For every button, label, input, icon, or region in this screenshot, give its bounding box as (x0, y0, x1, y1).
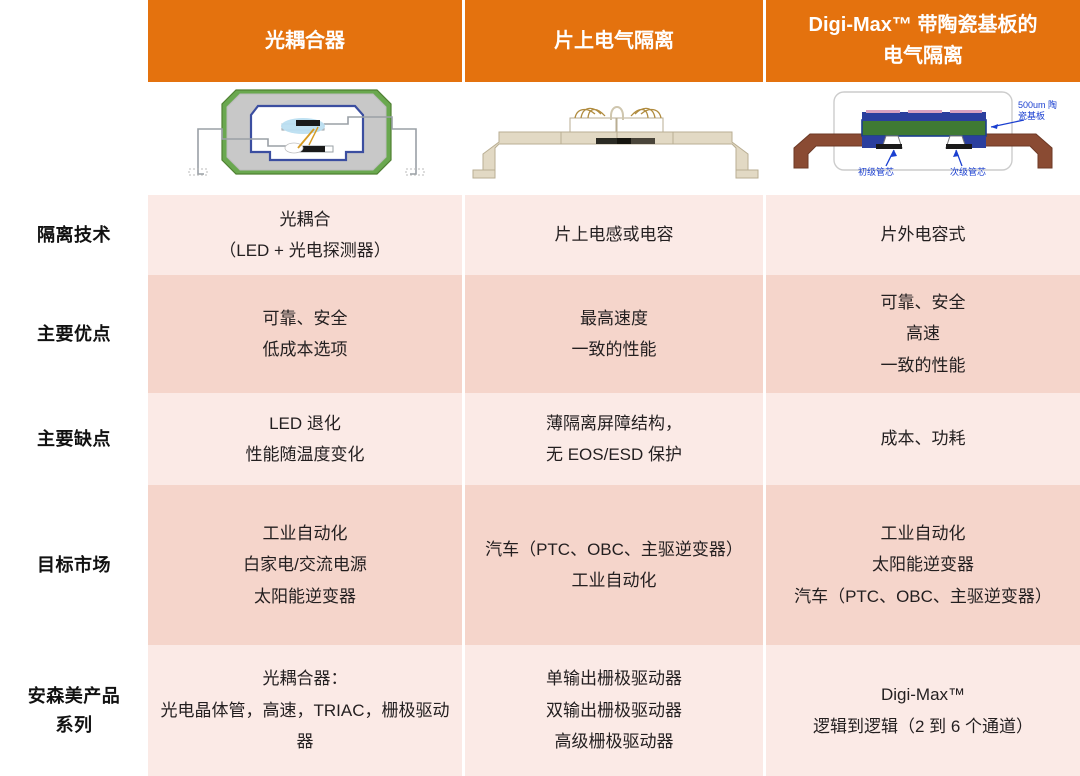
cell-r3-c3-line1: 成本、功耗 (881, 423, 966, 454)
diagram-on-chip-cell (465, 82, 766, 195)
cell-r5-c3-line2: 逻辑到逻辑（2 到 6 个通道） (813, 711, 1033, 742)
cell-r2-c2: 最高速度 一致的性能 (465, 275, 766, 393)
row-label-key-advantages-text: 主要优点 (37, 320, 111, 349)
cell-r3-c1: LED 退化 性能随温度变化 (148, 393, 465, 485)
annotation-primary-die: 初级管芯 (858, 166, 894, 177)
cell-r2-c3-line1: 可靠、安全 (881, 287, 966, 318)
row-label-target-markets: 目标市场 (0, 485, 148, 645)
cell-r5-c3: Digi-Max™ 逻辑到逻辑（2 到 6 个通道） (766, 645, 1080, 776)
cell-r5-c1: 光耦合器： 光电晶体管，高速，TRIAC，栅极驱动器 (148, 645, 465, 776)
annotation-secondary-die: 次级管芯 (950, 166, 986, 177)
column-header-on-chip-label: 片上电气隔离 (554, 26, 674, 57)
diagram-digimax-cell: 500um 陶 瓷基板 初级管芯 次级管芯 (766, 82, 1080, 195)
cell-r4-c1-line3: 太阳能逆变器 (254, 581, 356, 612)
row-label-onsemi-product-family-line2: 系列 (56, 711, 93, 740)
cell-r1-c1-line1: 光耦合 (280, 204, 331, 235)
cell-r5-c1-line1: 光耦合器： (263, 663, 348, 694)
cell-r4-c3-line1: 工业自动化 (881, 518, 966, 549)
header-corner-blank (0, 0, 148, 82)
cell-r3-c3: 成本、功耗 (766, 393, 1080, 485)
cell-r1-c1: 光耦合 （LED + 光电探测器） (148, 195, 465, 275)
cell-r2-c2-line2: 一致的性能 (572, 334, 657, 365)
column-header-on-chip: 片上电气隔离 (465, 0, 766, 82)
optocoupler-cross-section-icon (148, 82, 465, 195)
cell-r3-c2-line1: 薄隔离屏障结构， (546, 408, 682, 439)
cell-r3-c2: 薄隔离屏障结构， 无 EOS/ESD 保护 (465, 393, 766, 485)
cell-r4-c2-line1: 汽车（PTC、OBC、主驱逆变器）工业自动化 (477, 534, 751, 597)
cell-r1-c1-line2: （LED + 光电探测器） (219, 235, 390, 266)
diagram-on-chip (465, 82, 763, 195)
cell-r1-c2-line1: 片上电感或电容 (555, 219, 674, 250)
row-label-onsemi-product-family-line1: 安森美产品 (28, 682, 121, 711)
column-header-digimax: Digi-Max™ 带陶瓷基板的 电气隔离 (766, 0, 1080, 82)
cell-r1-c2: 片上电感或电容 (465, 195, 766, 275)
cell-r2-c1-line2: 低成本选项 (263, 334, 348, 365)
cell-r4-c3-line3: 汽车（PTC、OBC、主驱逆变器） (794, 581, 1052, 612)
digimax-ceramic-substrate-cross-section-icon: 500um 陶 瓷基板 初级管芯 次级管芯 (766, 82, 1080, 195)
cell-r1-c3-line1: 片外电容式 (881, 219, 966, 250)
column-header-optocoupler-label: 光耦合器 (265, 26, 345, 57)
cell-r5-c2-line1: 单输出栅极驱动器 (546, 663, 682, 694)
on-chip-isolation-cross-section-icon (465, 82, 766, 195)
row-label-onsemi-product-family: 安森美产品 系列 (0, 645, 148, 776)
cell-r2-c3-line2: 高速 (906, 318, 940, 349)
row-label-isolation-technology: 隔离技术 (0, 195, 148, 275)
cell-r5-c1-line2: 光电晶体管，高速，TRIAC，栅极驱动器 (160, 695, 450, 758)
cell-r4-c1-line1: 工业自动化 (263, 518, 348, 549)
diagram-optocoupler (148, 82, 462, 195)
cell-r2-c2-line1: 最高速度 (580, 303, 648, 334)
row-label-key-drawbacks: 主要缺点 (0, 393, 148, 485)
cell-r1-c3: 片外电容式 (766, 195, 1080, 275)
cell-r2-c3: 可靠、安全 高速 一致的性能 (766, 275, 1080, 393)
cell-r2-c1-line1: 可靠、安全 (263, 303, 348, 334)
cell-r4-c1: 工业自动化 白家电/交流电源 太阳能逆变器 (148, 485, 465, 645)
cell-r2-c1: 可靠、安全 低成本选项 (148, 275, 465, 393)
isolation-comparison-table: 光耦合器 片上电气隔离 Digi-Max™ 带陶瓷基板的 电气隔离 (0, 0, 1080, 776)
cell-r4-c1-line2: 白家电/交流电源 (243, 549, 367, 580)
cell-r4-c3-line2: 太阳能逆变器 (872, 549, 974, 580)
cell-r3-c1-line2: 性能随温度变化 (246, 439, 365, 470)
cell-r3-c1-line1: LED 退化 (269, 408, 341, 439)
diagram-digimax: 500um 陶 瓷基板 初级管芯 次级管芯 (766, 82, 1080, 195)
annotation-substrate-line2: 瓷基板 (1018, 110, 1045, 121)
row-label-isolation-technology-text: 隔离技术 (37, 221, 111, 250)
cell-r4-c2: 汽车（PTC、OBC、主驱逆变器）工业自动化 (465, 485, 766, 645)
column-header-optocoupler: 光耦合器 (148, 0, 465, 82)
diagram-optocoupler-cell (148, 82, 465, 195)
column-header-digimax-label-line2: 电气隔离 (883, 41, 963, 72)
row-label-target-markets-text: 目标市场 (37, 551, 111, 580)
cell-r5-c2-line3: 高级栅极驱动器 (555, 726, 674, 757)
cell-r5-c3-line1: Digi-Max™ (881, 679, 965, 710)
column-header-digimax-label-line1: Digi-Max™ 带陶瓷基板的 (809, 10, 1038, 41)
cell-r3-c2-line2: 无 EOS/ESD 保护 (546, 439, 682, 470)
cell-r5-c2-line2: 双输出栅极驱动器 (546, 695, 682, 726)
cell-r5-c2: 单输出栅极驱动器 双输出栅极驱动器 高级栅极驱动器 (465, 645, 766, 776)
diagram-row-blank-label (0, 82, 148, 195)
row-label-key-drawbacks-text: 主要缺点 (37, 425, 111, 454)
cell-r4-c3: 工业自动化 太阳能逆变器 汽车（PTC、OBC、主驱逆变器） (766, 485, 1080, 645)
annotation-substrate-line1: 500um 陶 (1018, 99, 1057, 110)
cell-r2-c3-line3: 一致的性能 (881, 350, 966, 381)
row-label-key-advantages: 主要优点 (0, 275, 148, 393)
comparison-table-slide: 光耦合器 片上电气隔离 Digi-Max™ 带陶瓷基板的 电气隔离 (0, 0, 1080, 776)
